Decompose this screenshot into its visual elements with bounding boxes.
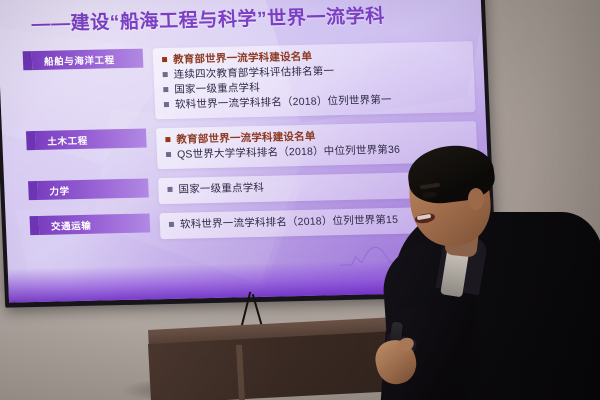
bullet-text: 软科世界一流学科排名（2018）位列世界第15 bbox=[180, 213, 399, 233]
bullet-square-icon bbox=[163, 72, 168, 77]
category-label: 土木工程 bbox=[26, 129, 147, 151]
category-pill-text: 交通运输 bbox=[39, 213, 151, 235]
category-label: 交通运输 bbox=[30, 213, 151, 235]
category-pill-text: 船舶与海洋工程 bbox=[32, 49, 144, 71]
bullet-square-icon bbox=[164, 102, 169, 107]
speaker-ear bbox=[468, 188, 484, 210]
category-pill-text: 土木工程 bbox=[35, 129, 147, 151]
bullet-square-icon bbox=[163, 87, 168, 92]
category-label: 船舶与海洋工程 bbox=[23, 49, 144, 71]
category-pill-text: 力学 bbox=[37, 178, 149, 200]
bullet-square-icon bbox=[166, 152, 171, 157]
presentation-scene: ——建设“船海工程与科学”世界一流学科 ——建设“船海工程与科学”世界一流学科 … bbox=[0, 0, 600, 400]
slide-title: ——建设“船海工程与科学”世界一流学科 bbox=[31, 1, 386, 36]
speaker-person bbox=[384, 140, 600, 400]
bullet-card: 教育部世界一流学科建设名单 连续四次教育部学科评估排名第一 国家一级重点学科 bbox=[153, 41, 476, 119]
bullet-text: 国家一级重点学科 bbox=[178, 181, 264, 198]
bullet-square-icon bbox=[167, 187, 172, 192]
bullet-square-icon bbox=[162, 57, 167, 62]
category-label: 力学 bbox=[28, 178, 149, 200]
bullet-square-icon bbox=[169, 222, 174, 227]
bullet-square-icon bbox=[165, 137, 170, 142]
discipline-row: 船舶与海洋工程 教育部世界一流学科建设名单 连续四次教育部学科评估排名第一 bbox=[23, 41, 476, 122]
